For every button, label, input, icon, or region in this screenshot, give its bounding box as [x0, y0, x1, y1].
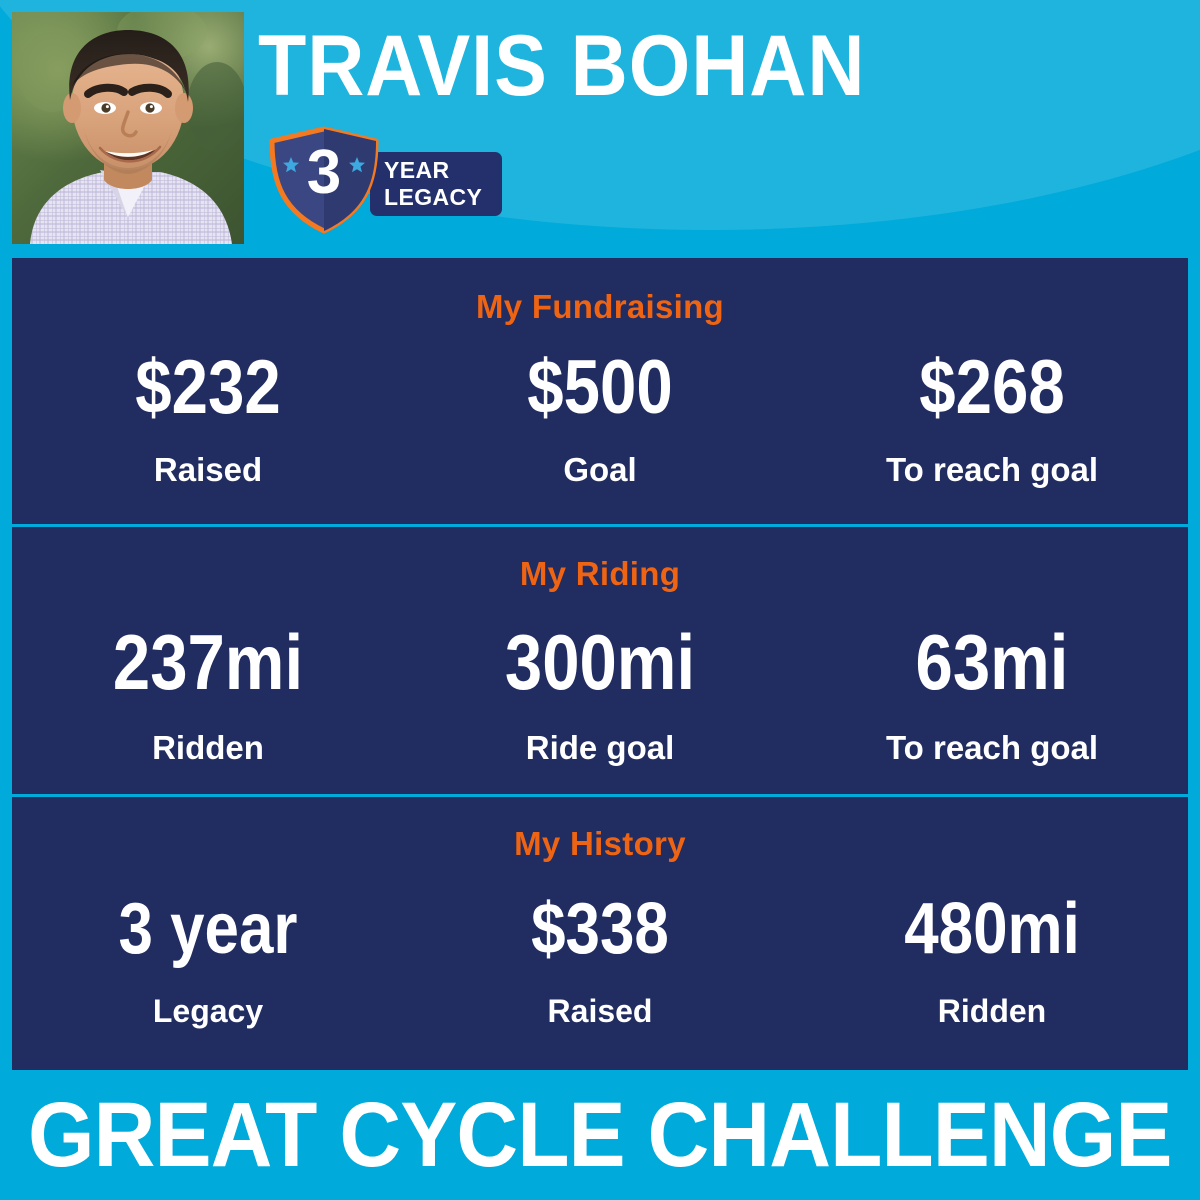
stat-value: 237mi — [39, 623, 376, 701]
stat-value: $268 — [823, 350, 1160, 426]
stat-row-history: 3 year Legacy $338 Raised 480mi Ridden — [12, 893, 1188, 1027]
page-title: TRAVIS BOHAN — [258, 12, 1104, 120]
stat-value: 480mi — [823, 893, 1160, 965]
fundraising-poster: TRAVIS BOHAN YEAR LEGACY 3 My Fundraisin… — [0, 0, 1200, 1200]
stats-panel: My Fundraising $232 Raised $500 Goal $26… — [12, 258, 1188, 1070]
stat-label: Ridden — [12, 731, 404, 764]
section-fundraising: My Fundraising $232 Raised $500 Goal $26… — [12, 258, 1188, 527]
stat-label: Ride goal — [404, 731, 796, 764]
legacy-badge-line1: YEAR — [384, 157, 482, 184]
stat-history-raised: $338 Raised — [404, 893, 796, 1027]
legacy-badge-plate-text: YEAR LEGACY — [384, 157, 482, 211]
stat-raised: $232 Raised — [12, 350, 404, 486]
portrait-photo-icon — [12, 12, 244, 244]
stat-label: To reach goal — [796, 453, 1188, 486]
stat-legacy: 3 year Legacy — [12, 893, 404, 1027]
stat-row-riding: 237mi Ridden 300mi Ride goal 63mi To rea… — [12, 623, 1188, 764]
brand-footer: GREAT CYCLE CHALLENGE — [0, 1070, 1200, 1200]
stat-row-fundraising: $232 Raised $500 Goal $268 To reach goal — [12, 350, 1188, 486]
stat-label: Ridden — [796, 995, 1188, 1027]
poster-header: TRAVIS BOHAN YEAR LEGACY 3 — [0, 0, 1200, 258]
stat-label: To reach goal — [796, 731, 1188, 764]
legacy-badge: YEAR LEGACY 3 — [266, 126, 506, 234]
stat-label: Goal — [404, 453, 796, 486]
brand-wordmark: GREAT CYCLE CHALLENGE — [28, 1089, 1171, 1181]
stat-value: 63mi — [823, 623, 1160, 701]
stat-label: Legacy — [12, 995, 404, 1027]
stat-value: 3 year — [39, 893, 376, 965]
stat-ride-goal: 300mi Ride goal — [404, 623, 796, 764]
section-history: My History 3 year Legacy $338 Raised 480… — [12, 797, 1188, 1067]
stat-to-reach-goal: $268 To reach goal — [796, 350, 1188, 486]
stat-value: $338 — [431, 893, 768, 965]
stat-value: $232 — [39, 350, 376, 426]
stat-value: 300mi — [431, 623, 768, 701]
avatar — [12, 12, 244, 244]
stat-goal: $500 Goal — [404, 350, 796, 486]
legacy-badge-number: 3 — [266, 142, 382, 204]
stat-history-ridden: 480mi Ridden — [796, 893, 1188, 1027]
section-riding: My Riding 237mi Ridden 300mi Ride goal 6… — [12, 527, 1188, 797]
stat-ridden: 237mi Ridden — [12, 623, 404, 764]
section-title-riding: My Riding — [12, 527, 1188, 593]
stat-value: $500 — [431, 350, 768, 426]
legacy-badge-plate: YEAR LEGACY — [370, 152, 502, 216]
stat-miles-to-reach-goal: 63mi To reach goal — [796, 623, 1188, 764]
stat-label: Raised — [12, 453, 404, 486]
stat-label: Raised — [404, 995, 796, 1027]
legacy-badge-line2: LEGACY — [384, 184, 482, 211]
section-title-history: My History — [12, 797, 1188, 863]
section-title-fundraising: My Fundraising — [12, 258, 1188, 326]
